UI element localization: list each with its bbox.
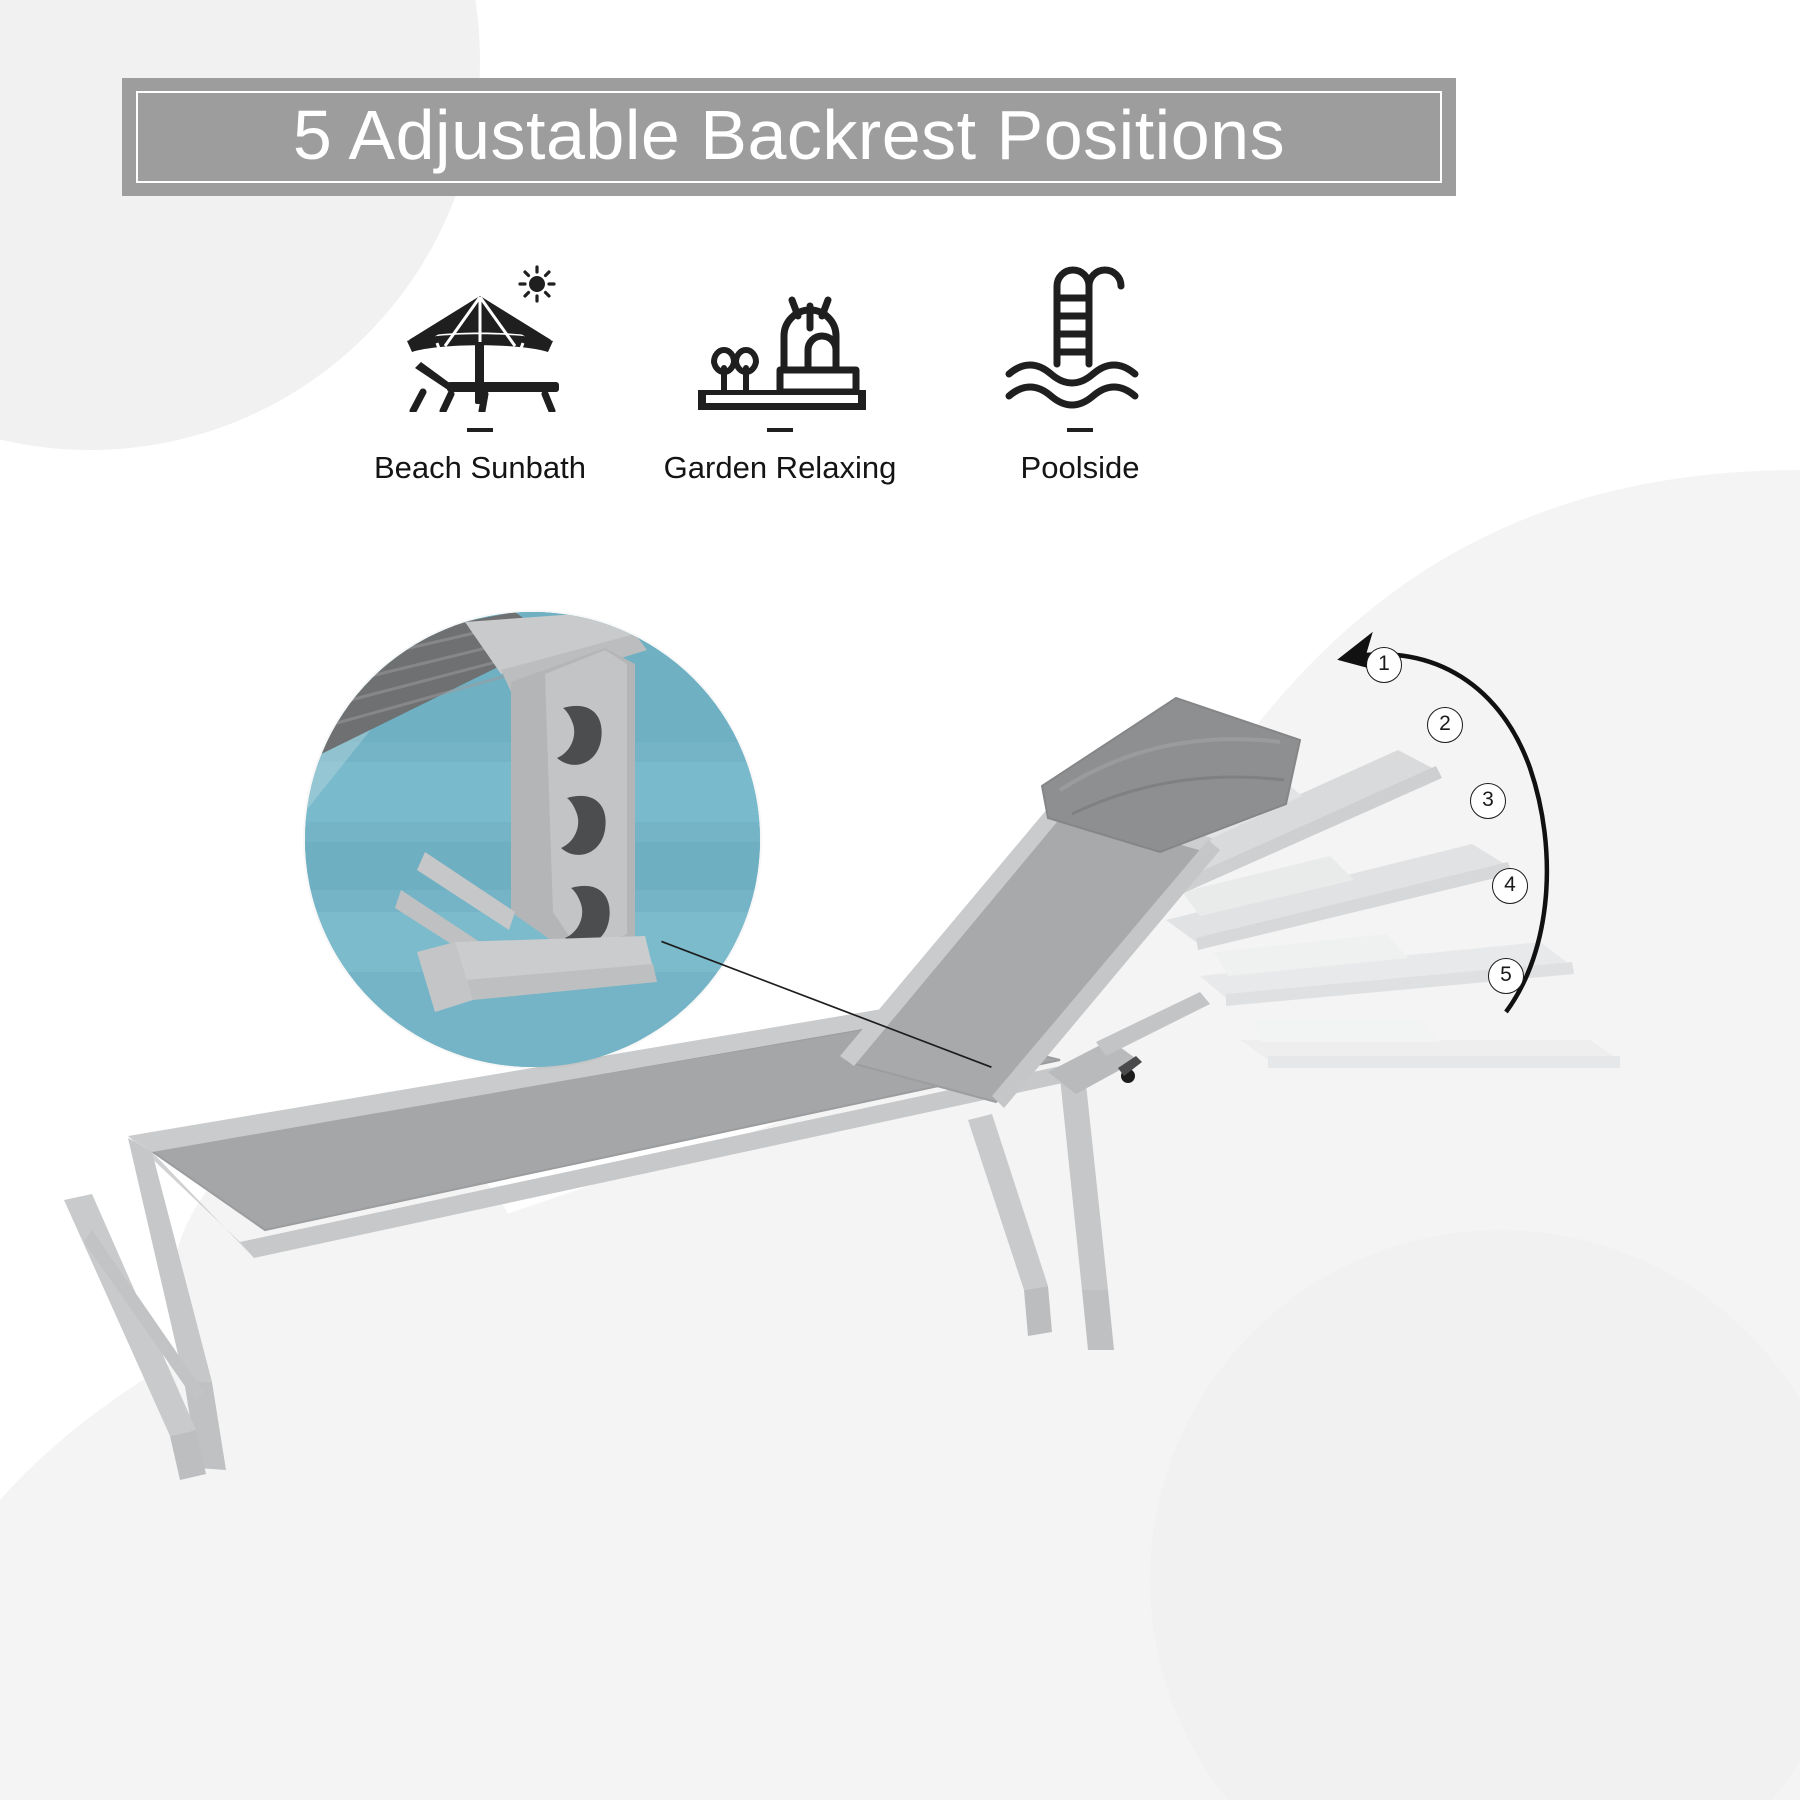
feature-divider-dash bbox=[767, 428, 793, 432]
feature-item-poolside: Poolside bbox=[930, 262, 1230, 486]
beach-umbrella-lounger-icon bbox=[380, 262, 580, 412]
recline-range-indicator: 1 2 3 4 5 bbox=[1180, 620, 1740, 1060]
page-title: 5 Adjustable Backrest Positions bbox=[293, 100, 1285, 170]
feature-divider-dash bbox=[467, 428, 493, 432]
position-marker-4: 4 bbox=[1492, 868, 1528, 904]
recline-arc-arrow bbox=[1180, 620, 1740, 1060]
header-banner: 5 Adjustable Backrest Positions bbox=[122, 78, 1456, 196]
feature-divider-dash bbox=[1067, 428, 1093, 432]
feature-label-garden-relaxing: Garden Relaxing bbox=[664, 450, 897, 486]
feature-item-beach-sunbath: Beach Sunbath bbox=[330, 262, 630, 486]
feature-list: Beach Sunbath bbox=[330, 262, 1230, 512]
infographic-canvas: 5 Adjustable Backrest Positions bbox=[0, 0, 1800, 1800]
feature-item-garden-relaxing: Garden Relaxing bbox=[630, 262, 930, 486]
product-illustration: 1 2 3 4 5 bbox=[0, 590, 1800, 1800]
feature-label-poolside: Poolside bbox=[1021, 450, 1140, 486]
position-marker-3: 3 bbox=[1470, 783, 1506, 819]
position-marker-2: 2 bbox=[1427, 707, 1463, 743]
position-marker-1: 1 bbox=[1366, 647, 1402, 683]
callout-leader-line bbox=[600, 920, 1000, 1120]
pool-ladder-waves-icon bbox=[980, 262, 1180, 412]
position-marker-5: 5 bbox=[1488, 958, 1524, 994]
garden-fountain-planter-icon bbox=[680, 262, 880, 412]
header-banner-inner-border: 5 Adjustable Backrest Positions bbox=[136, 91, 1442, 183]
feature-label-beach-sunbath: Beach Sunbath bbox=[374, 450, 586, 486]
